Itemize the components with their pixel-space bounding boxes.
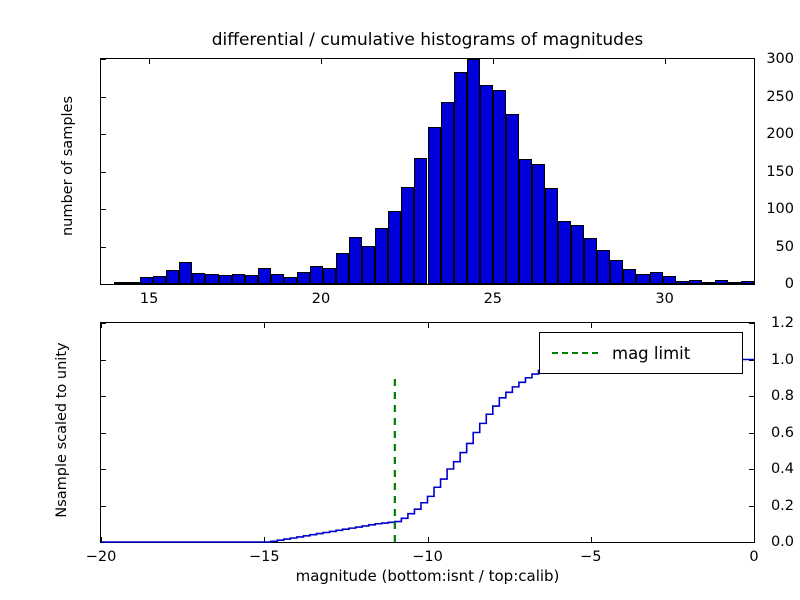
histogram-bar xyxy=(297,272,310,284)
histogram-bar xyxy=(597,250,610,284)
bottom-xtick-label: −5 xyxy=(580,549,601,565)
histogram-bar xyxy=(114,282,127,284)
bottom-panel-ylabel: Nsample scaled to unity xyxy=(54,315,70,545)
histogram-bar xyxy=(702,282,715,284)
mag-limit-legend-label: mag limit xyxy=(612,344,690,363)
histogram-bar xyxy=(336,253,349,284)
histogram-bar xyxy=(153,276,166,284)
histogram-bar xyxy=(532,164,545,284)
bottom-xtick-mark xyxy=(754,537,755,542)
bottom-xtick-label: 0 xyxy=(749,549,758,565)
histogram-bar xyxy=(401,187,414,285)
histogram-bar xyxy=(493,90,506,284)
histogram-bar xyxy=(258,268,271,285)
histogram-bar xyxy=(179,262,192,285)
histogram-bar xyxy=(480,85,493,284)
bottom-xtick-mark xyxy=(754,323,755,328)
histogram-bar xyxy=(441,102,454,284)
histogram-bar xyxy=(741,281,754,284)
histogram-bar xyxy=(571,225,584,284)
differential-histogram-axes xyxy=(100,58,755,285)
top-ytick-mark xyxy=(101,209,106,210)
histogram-bar xyxy=(454,72,467,284)
histogram-bar xyxy=(428,127,441,284)
histogram-bar xyxy=(362,246,375,284)
histogram-bar xyxy=(375,228,388,284)
top-ytick-mark xyxy=(101,284,106,285)
histogram-bar xyxy=(584,238,597,285)
histogram-bar xyxy=(310,266,323,284)
histogram-bar xyxy=(545,188,558,284)
histogram-bar xyxy=(610,260,623,284)
top-ytick-mark xyxy=(101,97,106,98)
top-xtick-label: 20 xyxy=(312,291,330,307)
histogram-bar xyxy=(506,114,519,284)
mag-limit-legend-swatch xyxy=(552,352,598,354)
histogram-bar xyxy=(192,273,205,284)
top-xtick-label: 30 xyxy=(655,291,673,307)
bottom-ytick-mark xyxy=(749,542,754,543)
top-ytick-mark xyxy=(101,134,106,135)
histogram-bar xyxy=(232,274,245,284)
top-ytick-mark xyxy=(101,247,106,248)
figure-title: differential / cumulative histograms of … xyxy=(100,30,755,50)
histogram-bar xyxy=(388,211,401,284)
histogram-bar xyxy=(650,272,663,284)
figure-canvas: differential / cumulative histograms of … xyxy=(0,0,800,600)
histogram-bar xyxy=(676,281,689,284)
bottom-xtick-label: −10 xyxy=(412,549,443,565)
top-xtick-label: 15 xyxy=(140,291,158,307)
histogram-bar xyxy=(284,277,297,284)
histogram-bar xyxy=(245,275,258,284)
histogram-bar xyxy=(349,237,362,284)
histogram-bar xyxy=(219,275,232,284)
top-ytick-mark xyxy=(101,172,106,173)
top-panel-ylabel: number of samples xyxy=(60,56,76,276)
bottom-xtick-label: −20 xyxy=(86,549,117,565)
top-xtick-mark xyxy=(149,59,150,64)
top-xtick-mark xyxy=(321,59,322,64)
histogram-bar xyxy=(166,270,179,284)
top-xtick-mark xyxy=(665,59,666,64)
cumulative-curve xyxy=(101,360,754,543)
histogram-bar xyxy=(558,221,571,284)
histogram-bar xyxy=(636,274,649,285)
histogram-bar xyxy=(467,59,480,284)
bottom-xtick-label: −15 xyxy=(249,549,280,565)
histogram-bar xyxy=(140,277,153,285)
histogram-bar xyxy=(127,282,140,284)
histogram-bar xyxy=(205,274,218,285)
histogram-bar xyxy=(728,282,741,284)
top-xtick-label: 25 xyxy=(484,291,502,307)
histogram-bar xyxy=(414,158,427,284)
bottom-panel-xlabel: magnitude (bottom:isnt / top:calib) xyxy=(100,567,755,585)
histogram-bar xyxy=(623,269,636,284)
histogram-bar xyxy=(715,280,728,284)
legend-box[interactable]: mag limit xyxy=(539,332,743,374)
histogram-bar xyxy=(663,276,676,284)
top-ytick-mark xyxy=(101,59,106,60)
histogram-bar xyxy=(323,268,336,285)
histogram-bar xyxy=(519,159,532,284)
histogram-bar xyxy=(271,274,284,284)
histogram-bar xyxy=(689,280,702,285)
top-xtick-mark xyxy=(493,59,494,64)
cumulative-histogram-axes: mag limit xyxy=(100,322,755,543)
